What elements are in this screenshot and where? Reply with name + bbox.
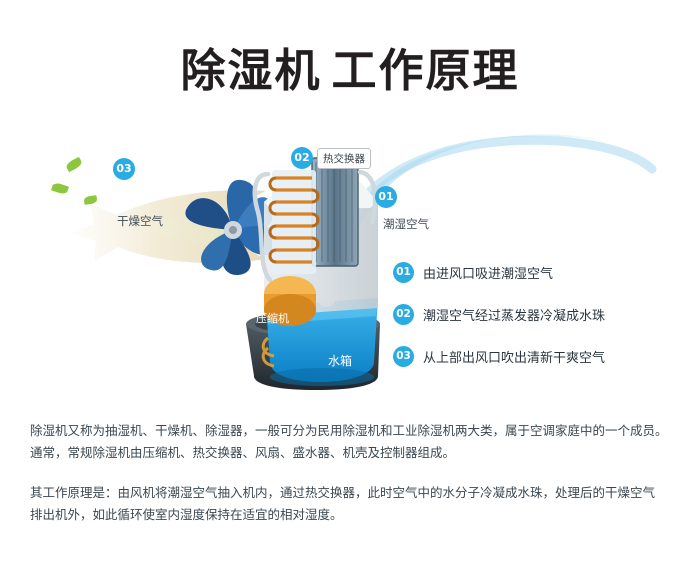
legend-badge-02: 02 <box>393 304 414 325</box>
humid-air-label: 潮湿空气 <box>383 216 429 232</box>
page-title-part1: 除湿机 <box>180 44 321 97</box>
badge-03-left: 03 <box>113 158 135 180</box>
page-root: 除湿机工作原理 <box>0 0 700 566</box>
legend-text-03: 从上部出风口吹出清新干爽空气 <box>423 347 605 366</box>
heat-exchanger-tag: 热交换器 <box>317 148 371 169</box>
paragraph-2: 其工作原理是：由风机将潮湿空气抽入机内，通过热交换器，此时空气中的水分子冷凝成水… <box>30 482 670 526</box>
paragraph-2-line-1: 其工作原理是：由风机将潮湿空气抽入机内，通过热交换器，此时空气中的水分子冷凝成水… <box>30 482 670 504</box>
badge-02-top: 02 <box>291 147 313 169</box>
paragraph-1-line-2: 通常，常规除湿机由压缩机、热交换器、风扇、盛水器、机壳及控制器组成。 <box>30 442 670 464</box>
legend-text-02: 潮湿空气经过蒸发器冷凝成水珠 <box>423 305 605 324</box>
legend-text-01: 由进风口吸进潮湿空气 <box>423 263 553 282</box>
legend-badge-01: 01 <box>393 262 414 283</box>
dry-air-label: 干燥空气 <box>117 213 163 229</box>
legend-badge-03: 03 <box>393 346 414 367</box>
water-tank-label: 水箱 <box>328 352 352 369</box>
badge-01-right: 01 <box>375 186 397 208</box>
legend-item-01: 01 由进风口吸进潮湿空气 <box>393 262 553 283</box>
paragraph-2-line-2: 排出机外，如此循环使室内湿度保持在适宜的相对湿度。 <box>30 504 670 526</box>
leaf-icon-1 <box>65 157 83 172</box>
paragraph-1: 除湿机又称为抽湿机、干燥机、除湿器，一般可分为民用除湿机和工业除湿机两大类，属于… <box>30 420 670 464</box>
page-title-part2: 工作原理 <box>332 44 520 97</box>
legend-item-03: 03 从上部出风口吹出清新干爽空气 <box>393 346 605 367</box>
compressor-label: 压缩机 <box>256 310 289 326</box>
paragraph-1-line-1: 除湿机又称为抽湿机、干燥机、除湿器，一般可分为民用除湿机和工业除湿机两大类，属于… <box>30 420 670 442</box>
page-title: 除湿机工作原理 <box>0 34 700 99</box>
legend-item-02: 02 潮湿空气经过蒸发器冷凝成水珠 <box>393 304 605 325</box>
dehumidifier-diagram: 压缩机 水箱 02 热交换器 03 干燥空气 01 潮湿空气 01 由进风口吸进… <box>0 120 700 400</box>
dehumidifier-unit-icon <box>228 148 418 398</box>
